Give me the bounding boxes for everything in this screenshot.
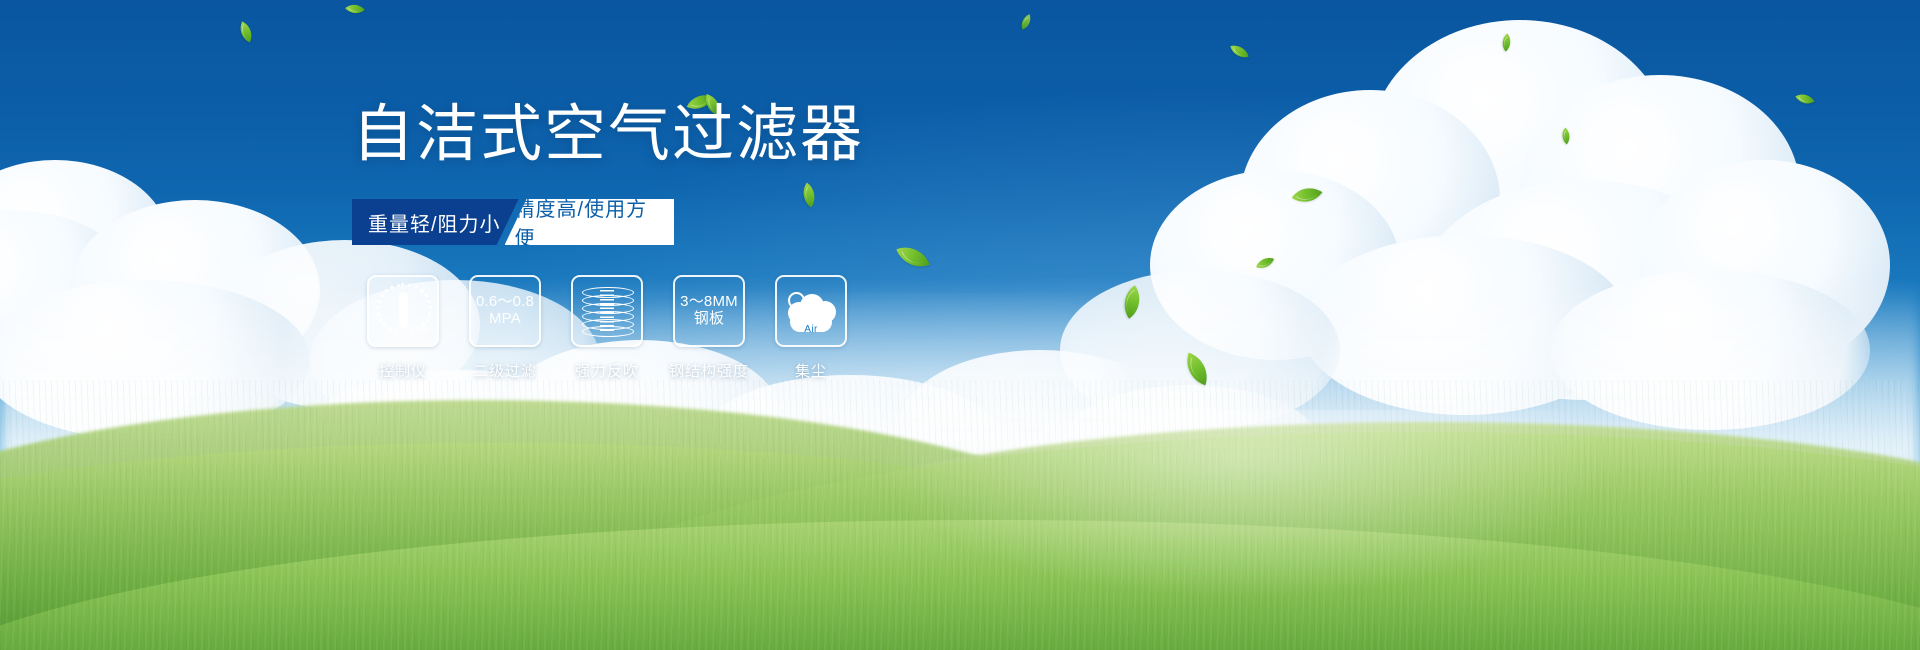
grass-field: [0, 380, 1920, 650]
feature-item-pressure[interactable]: 0.6～0.8 MPA 二级过滤: [454, 275, 556, 381]
feature-icon-box: Air: [775, 275, 847, 347]
gauge-icon: NO OFF: [375, 283, 431, 339]
feature-item-steel[interactable]: 3～8MM 钢板 钢结构强度: [658, 275, 760, 381]
product-banner: 自洁式空气过滤器 重量轻/阻力小 精度高/使用方便: [0, 0, 1920, 650]
steel-plate-icon: 3～8MM 钢板: [680, 294, 738, 328]
gauge-label-off: OFF: [420, 328, 432, 334]
tagline-tab-1[interactable]: 重量轻/阻力小: [352, 199, 519, 245]
feature-icon-box: 3～8MM 钢板: [673, 275, 745, 347]
pressure-icon: 0.6～0.8 MPA: [476, 294, 534, 328]
tagline-tabs: 重量轻/阻力小 精度高/使用方便: [352, 199, 674, 245]
gauge-needle: [399, 292, 408, 328]
feature-icon-box: [571, 275, 643, 347]
feature-list: NO OFF 控制仪 0.6～0.8 MPA 二级过滤: [352, 275, 1112, 381]
steel-thickness: 3～8MM: [680, 294, 738, 311]
feature-item-dust[interactable]: Air 集尘: [760, 275, 862, 381]
pressure-range: 0.6～0.8: [476, 294, 534, 311]
feature-icon-box: NO OFF: [367, 275, 439, 347]
dust-particle-ring: [788, 292, 805, 309]
feature-label: 钢结构强度: [669, 360, 749, 381]
dust-cloud-icon: Air: [784, 288, 838, 334]
feature-label: 二级过滤: [473, 360, 537, 381]
dust-label-air: Air: [804, 324, 817, 335]
coil-icon: [582, 286, 632, 336]
gauge-label-no: NO: [374, 313, 383, 319]
steel-material: 钢板: [680, 311, 738, 328]
page-title: 自洁式空气过滤器: [352, 104, 1112, 166]
tagline-tab-2[interactable]: 精度高/使用方便: [505, 199, 674, 245]
feature-item-blowback[interactable]: 强力反吹: [556, 275, 658, 381]
feature-label: 强力反吹: [575, 360, 639, 381]
feature-label: 控制仪: [379, 360, 427, 381]
pressure-unit: MPA: [476, 311, 534, 328]
feature-icon-box: 0.6～0.8 MPA: [469, 275, 541, 347]
feature-item-controller[interactable]: NO OFF 控制仪: [352, 275, 454, 381]
banner-content: 自洁式空气过滤器 重量轻/阻力小 精度高/使用方便: [352, 104, 1112, 381]
feature-label: 集尘: [795, 360, 827, 381]
